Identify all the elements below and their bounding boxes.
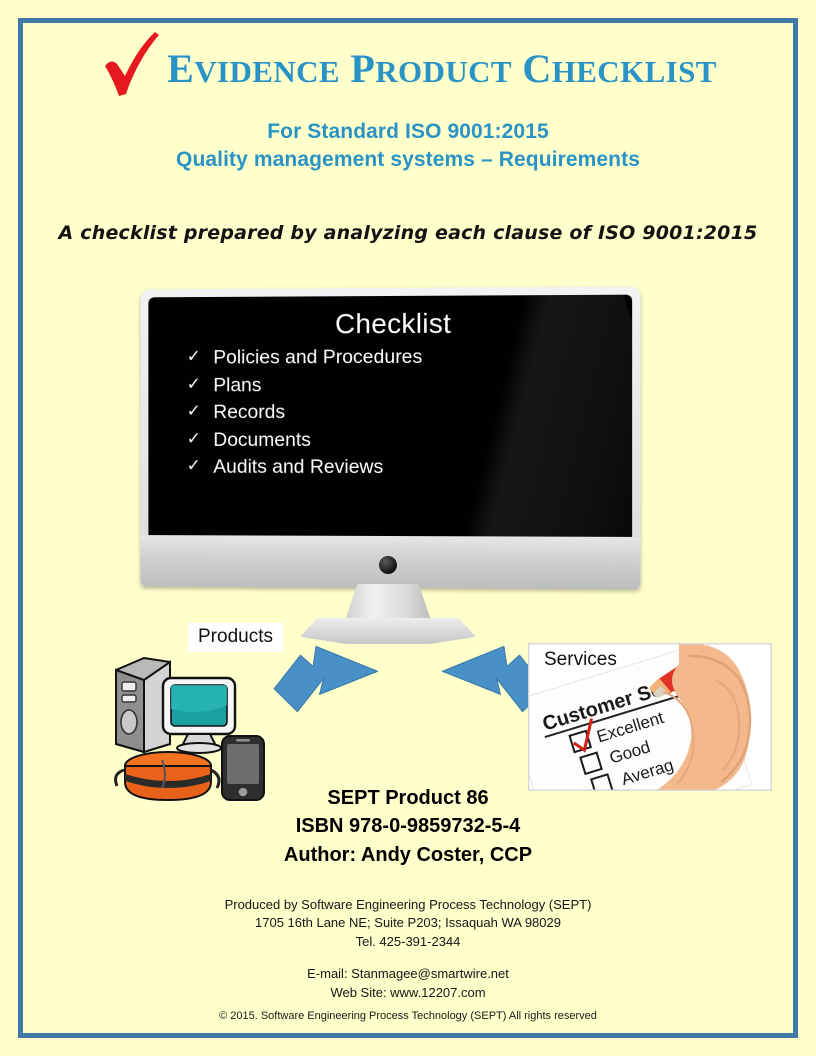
- product-author: Author: Andy Coster, CCP: [0, 841, 816, 869]
- list-item-label: Audits and Reviews: [213, 456, 383, 478]
- list-item-label: Documents: [213, 429, 311, 451]
- product-isbn: ISBN 978-0-9859732-5-4: [0, 812, 816, 840]
- services-label: Services: [534, 646, 627, 675]
- document-page: EVIDENCE PRODUCT CHECKLIST For Standard …: [0, 0, 816, 1056]
- footer-produced-by: Produced by Software Engineering Process…: [0, 896, 816, 914]
- list-item: ✓ Documents: [213, 428, 427, 451]
- monitor-body: Checklist ✓ Policies and Procedures ✓ Pl…: [141, 287, 641, 590]
- monitor-stand-foot: [300, 618, 476, 644]
- footer-website: Web Site: www.12207.com: [0, 984, 816, 1002]
- footer-address: 1705 16th Lane NE; Suite P203; Issaquah …: [0, 914, 816, 932]
- monitor-illustration: Checklist ✓ Policies and Procedures ✓ Pl…: [138, 288, 638, 643]
- products-illustration: [110, 648, 280, 806]
- screen-content: Checklist ✓ Policies and Procedures ✓ Pl…: [148, 295, 632, 480]
- product-number: SEPT Product 86: [0, 784, 816, 812]
- monitor-screen: Checklist ✓ Policies and Procedures ✓ Pl…: [148, 295, 632, 545]
- list-item-label: Records: [213, 401, 285, 423]
- list-item: ✓ Audits and Reviews: [213, 456, 427, 479]
- check-icon: ✓: [187, 374, 201, 394]
- product-info-block: SEPT Product 86 ISBN 978-0-9859732-5-4 A…: [0, 784, 816, 869]
- list-item-label: Plans: [213, 374, 261, 396]
- monitor-bezel-chin: [141, 535, 641, 589]
- page-title-text: EVIDENCE PRODUCT CHECKLIST: [167, 46, 717, 91]
- screen-title: Checklist: [162, 307, 618, 341]
- subtitle-line-2: Quality management systems – Requirement…: [0, 146, 816, 174]
- tagline: A checklist prepared by analyzing each c…: [0, 222, 816, 244]
- check-icon: ✓: [187, 347, 201, 367]
- footer-spacer: [0, 951, 816, 965]
- list-item: ✓ Records: [213, 401, 427, 424]
- document-header: EVIDENCE PRODUCT CHECKLIST For Standard …: [0, 34, 816, 175]
- page-title: EVIDENCE PRODUCT CHECKLIST: [167, 49, 717, 89]
- check-icon: ✓: [187, 429, 201, 449]
- footer-telephone: Tel. 425-391-2344: [0, 933, 816, 951]
- checklist: ✓ Policies and Procedures ✓ Plans ✓ Reco…: [162, 345, 618, 479]
- camera-dot-icon: [379, 556, 397, 574]
- check-icon: ✓: [187, 456, 201, 476]
- list-item-label: Policies and Procedures: [213, 346, 422, 369]
- red-check-mark-icon: [99, 32, 161, 98]
- list-item: ✓ Plans: [213, 373, 427, 396]
- list-item: ✓ Policies and Procedures: [213, 346, 427, 370]
- subtitle-block: For Standard ISO 9001:2015 Quality manag…: [0, 118, 816, 175]
- products-label: Products: [188, 623, 283, 652]
- document-footer: Produced by Software Engineering Process…: [0, 896, 816, 1002]
- arrow-products-to-monitor-icon: [272, 644, 380, 722]
- copyright-notice: © 2015. Software Engineering Process Tec…: [0, 1010, 816, 1022]
- check-icon: ✓: [187, 401, 201, 421]
- title-row: EVIDENCE PRODUCT CHECKLIST: [0, 34, 816, 104]
- subtitle-line-1: For Standard ISO 9001:2015: [0, 118, 816, 146]
- footer-email: E-mail: Stanmagee@smartwire.net: [0, 965, 816, 983]
